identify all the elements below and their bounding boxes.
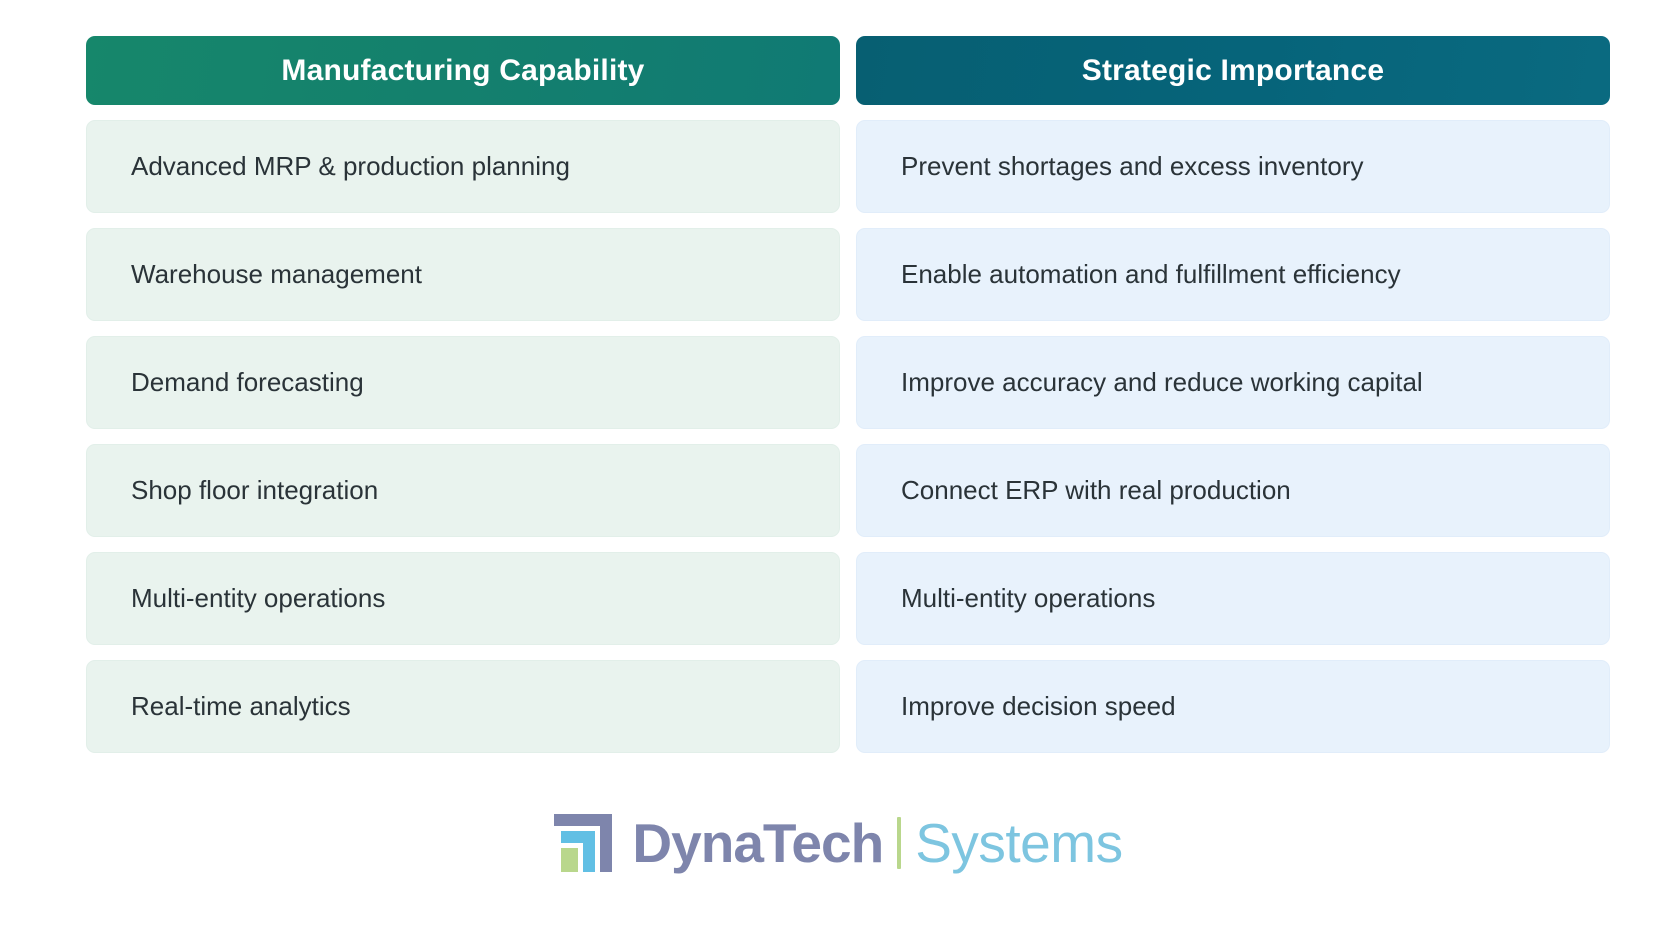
table-row: Warehouse management	[86, 228, 840, 321]
table-row: Real-time analytics	[86, 660, 840, 753]
logo-wordmark: DynaTech Systems	[632, 816, 1122, 871]
table-row: Connect ERP with real production	[856, 444, 1610, 537]
table-row: Improve decision speed	[856, 660, 1610, 753]
comparison-table: Manufacturing Capability Advanced MRP & …	[86, 36, 1610, 753]
table-row: Improve accuracy and reduce working capi…	[856, 336, 1610, 429]
table-row: Shop floor integration	[86, 444, 840, 537]
column-manufacturing-capability: Manufacturing Capability Advanced MRP & …	[86, 36, 840, 753]
column-header-manufacturing-capability: Manufacturing Capability	[86, 36, 840, 105]
logo-name: DynaTech	[632, 816, 883, 871]
slide-canvas: Manufacturing Capability Advanced MRP & …	[0, 0, 1675, 934]
table-row: Multi-entity operations	[86, 552, 840, 645]
dynatech-logo-mark-icon	[552, 812, 614, 874]
column-header-strategic-importance: Strategic Importance	[856, 36, 1610, 105]
logo-subname: Systems	[915, 816, 1122, 871]
column-strategic-importance: Strategic Importance Prevent shortages a…	[856, 36, 1610, 753]
table-row: Enable automation and fulfillment effici…	[856, 228, 1610, 321]
dynatech-systems-logo: DynaTech Systems	[0, 812, 1675, 874]
logo-divider	[897, 817, 901, 869]
table-row: Prevent shortages and excess inventory	[856, 120, 1610, 213]
table-row: Demand forecasting	[86, 336, 840, 429]
table-row: Multi-entity operations	[856, 552, 1610, 645]
table-row: Advanced MRP & production planning	[86, 120, 840, 213]
